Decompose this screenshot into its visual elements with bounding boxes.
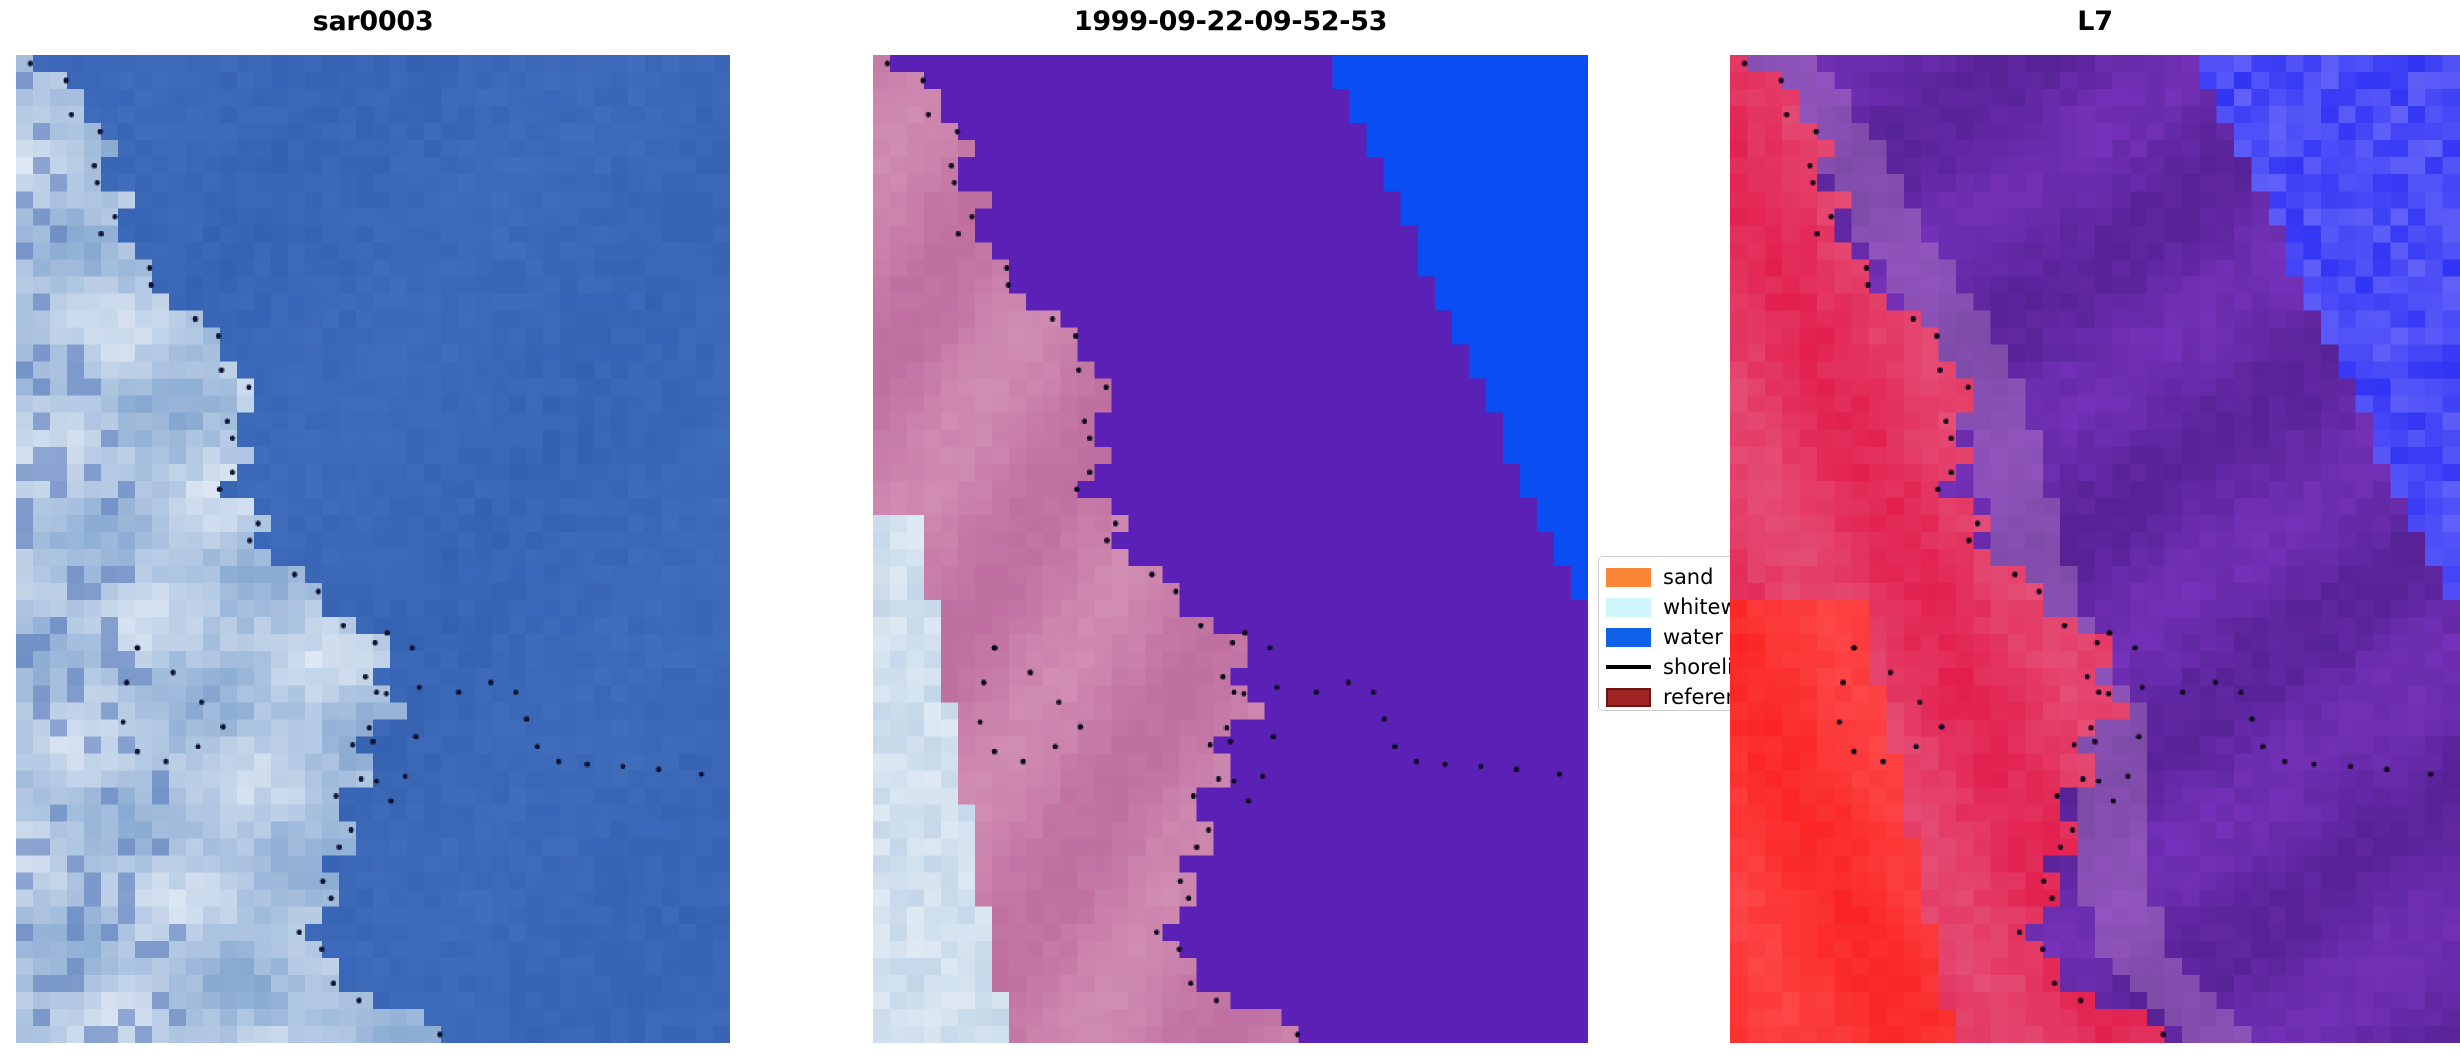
- l7-raster: [1730, 55, 2460, 1043]
- panel-image-classification: [873, 55, 1588, 1043]
- panel-classification: 1999-09-22-09-52-53: [746, 0, 1615, 1059]
- panel-l7: L7: [1615, 0, 2460, 1059]
- figure-canvas: sar0003 1999-09-22-09-52-53 sand whitewa…: [0, 0, 2460, 1059]
- panel-title-sar0003: sar0003: [0, 6, 746, 37]
- panel-image-l7: [1730, 55, 2460, 1043]
- panel-title-l7: L7: [1730, 6, 2460, 37]
- panel-title-classification: 1999-09-22-09-52-53: [873, 6, 1588, 37]
- panel-sar0003: sar0003: [0, 0, 746, 1059]
- classification-raster: [873, 55, 1588, 1043]
- panel-image-sar0003: [16, 55, 730, 1043]
- sar-raster: [16, 55, 730, 1043]
